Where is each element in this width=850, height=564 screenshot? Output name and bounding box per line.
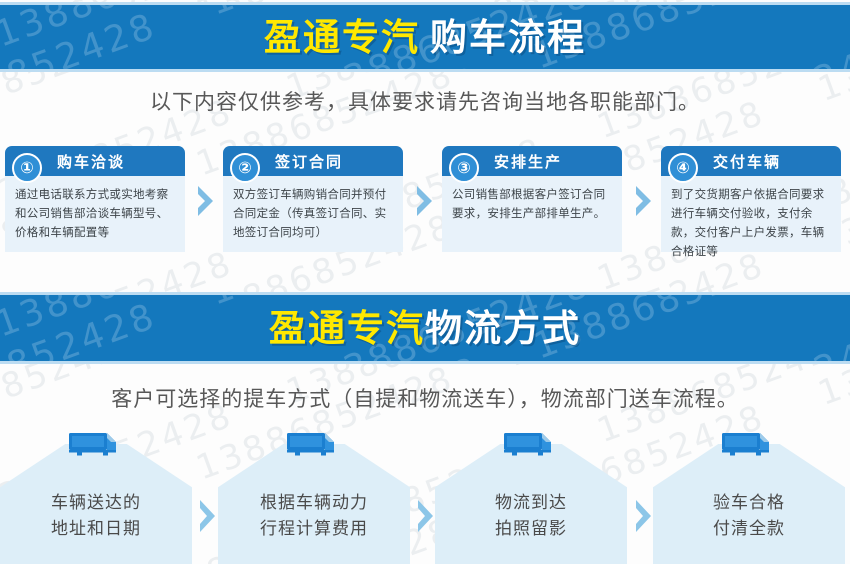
- logistics-line-2: 地址和日期: [0, 516, 192, 542]
- chevron-right-icon: [195, 184, 217, 218]
- step-card-1[interactable]: 购车洽谈 ① 通过电话联系方式或实地考察和公司销售部洽谈车辆型号、价格和车辆配置…: [5, 146, 185, 252]
- step-body-2: 双方签订车辆购销合同并预付合同定金（传真签订合同、实地签订合同均可）: [223, 176, 403, 252]
- logistics-box-text-3: 物流到达 拍照留影: [435, 490, 627, 542]
- logistics-box-text-4: 验车合格 付清全款: [653, 490, 845, 542]
- step-title-2: 签订合同: [275, 151, 343, 172]
- chevron-right-icon: [196, 498, 220, 534]
- logistics-banner-title: 盈通专汽物流方式: [269, 310, 581, 347]
- chevron-right-icon: [414, 498, 438, 534]
- logistics-line-1: 验车合格: [653, 490, 845, 516]
- truck-icon: [285, 430, 343, 460]
- step-body-3: 公司销售部根据客户签订合同要求，安排生产部排单生产。: [442, 176, 622, 252]
- truck-icon: [67, 430, 125, 460]
- logistics-line-2: 付清全款: [653, 516, 845, 542]
- logistics-box-text-2: 根据车辆动力 行程计算费用: [218, 490, 410, 542]
- step-card-4[interactable]: 交付车辆 ④ 到了交货期客户依据合同要求进行车辆交付验收，支付余款，交付客户上户…: [661, 146, 841, 252]
- step-body-4: 到了交货期客户依据合同要求进行车辆交付验收，支付余款，交付客户上户发票，车辆合格…: [661, 176, 841, 252]
- logistics-box-3[interactable]: 物流到达 拍照留影: [435, 430, 627, 564]
- page-root: 1388685242813886852428138868524281388685…: [0, 0, 850, 564]
- logistics-line-1: 物流到达: [435, 490, 627, 516]
- logistics-line-2: 拍照留影: [435, 516, 627, 542]
- brand-name: 盈通专汽: [264, 16, 420, 59]
- step-number-badge-4: ④: [668, 153, 698, 183]
- purchase-subtitle: 以下内容仅供参考，具体要求请先咨询当地各职能部门。: [0, 86, 850, 116]
- logistics-subtitle: 客户可选择的提车方式（自提和物流送车），物流部门送车流程。: [0, 383, 850, 413]
- logistics-banner-tail: 物流方式: [425, 307, 581, 350]
- step-card-3[interactable]: 安排生产 ③ 公司销售部根据客户签订合同要求，安排生产部排单生产。: [442, 146, 622, 252]
- step-number-badge-2: ②: [230, 153, 260, 183]
- logistics-box-1[interactable]: 车辆送达的 地址和日期: [0, 430, 192, 564]
- truck-icon: [502, 430, 560, 460]
- step-title-1: 购车洽谈: [57, 151, 125, 172]
- purchase-banner: 1388685242813886852428138868524281388685…: [0, 2, 850, 72]
- chevron-right-icon: [633, 184, 655, 218]
- purchase-steps-row: 购车洽谈 ① 通过电话联系方式或实地考察和公司销售部洽谈车辆型号、价格和车辆配置…: [5, 146, 845, 254]
- chevron-right-icon: [414, 184, 436, 218]
- truck-icon: [720, 430, 778, 460]
- logistics-banner: 1388685242813886852428138868524281388685…: [0, 292, 850, 364]
- purchase-banner-tail: 购车流程: [430, 16, 586, 59]
- step-title-3: 安排生产: [494, 151, 562, 172]
- logistics-line-2: 行程计算费用: [218, 516, 410, 542]
- logistics-box-4[interactable]: 验车合格 付清全款: [653, 430, 845, 564]
- logistics-line-1: 车辆送达的: [0, 490, 192, 516]
- step-card-2[interactable]: 签订合同 ② 双方签订车辆购销合同并预付合同定金（传真签订合同、实地签订合同均可…: [223, 146, 403, 252]
- brand-name: 盈通专汽: [269, 307, 425, 350]
- logistics-box-text-1: 车辆送达的 地址和日期: [0, 490, 192, 542]
- purchase-banner-title: 盈通专汽购车流程: [264, 19, 586, 56]
- logistics-box-2[interactable]: 根据车辆动力 行程计算费用: [218, 430, 410, 564]
- logistics-boxes-row: 车辆送达的 地址和日期 根据车辆动力 行程计算费用: [0, 430, 850, 564]
- logistics-line-1: 根据车辆动力: [218, 490, 410, 516]
- step-number-badge-1: ①: [12, 153, 42, 183]
- chevron-right-icon: [632, 498, 656, 534]
- step-title-4: 交付车辆: [713, 151, 781, 172]
- step-body-1: 通过电话联系方式或实地考察和公司销售部洽谈车辆型号、价格和车辆配置等: [5, 176, 185, 252]
- step-number-badge-3: ③: [449, 153, 479, 183]
